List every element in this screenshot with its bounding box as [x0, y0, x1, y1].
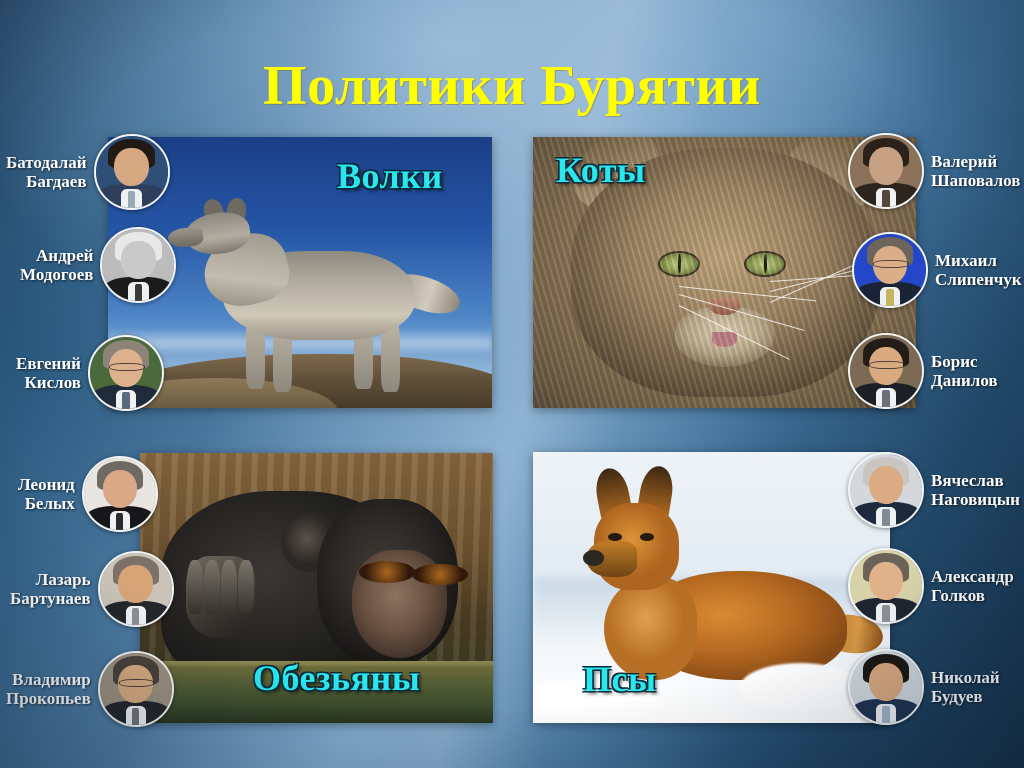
person-name: Вячеслав Наговицын	[931, 471, 1020, 510]
avatar[interactable]	[98, 651, 174, 727]
avatar[interactable]	[848, 333, 924, 409]
person-first-name: Валерий	[931, 152, 1020, 171]
portrait-face	[869, 147, 904, 186]
portrait-photo	[850, 135, 922, 207]
person-name: Валерий Шаповалов	[931, 152, 1020, 191]
person-name: Михаил Слипенчук	[935, 251, 1022, 290]
portrait-photo	[850, 550, 922, 622]
person-entry[interactable]: Леонид Белых	[18, 457, 158, 531]
portrait-photo	[850, 335, 922, 407]
person-last-name: Багдаев	[6, 172, 87, 191]
portrait-tie	[128, 191, 135, 208]
portrait-photo	[96, 136, 168, 208]
chimp-finger-shape	[187, 560, 203, 613]
snow-mound-shape	[740, 663, 861, 712]
portrait-tie	[882, 190, 889, 207]
person-last-name: Будуев	[931, 687, 1000, 706]
person-entry[interactable]: Николай Будуев	[848, 650, 1000, 724]
avatar[interactable]	[88, 335, 164, 411]
person-name: Евгений Кислов	[16, 354, 81, 393]
person-first-name: Николай	[931, 668, 1000, 687]
portrait-tie	[886, 289, 893, 306]
portrait-tie	[132, 708, 139, 725]
portrait-tie	[116, 513, 123, 530]
portrait-tie	[882, 390, 889, 407]
person-name: Леонид Белых	[18, 475, 75, 514]
person-entry[interactable]: Евгений Кислов	[16, 336, 164, 410]
dog-nose-shape	[583, 550, 604, 566]
portrait-glasses	[869, 361, 904, 369]
person-entry[interactable]: Лазарь Бартунаев	[10, 552, 174, 626]
caption-wolves: Волки	[337, 158, 443, 194]
slide-canvas: Политики Бурятии Волки	[0, 0, 1024, 768]
avatar[interactable]	[848, 133, 924, 209]
page-title: Политики Бурятии	[0, 58, 1024, 114]
person-name: Лазарь Бартунаев	[10, 570, 91, 609]
person-last-name: Прокопьев	[6, 689, 91, 708]
portrait-photo	[100, 653, 172, 725]
person-first-name: Батодалай	[6, 153, 87, 172]
person-name: Батодалай Багдаев	[6, 153, 87, 192]
person-first-name: Владимир	[6, 670, 91, 689]
portrait-photo	[84, 458, 156, 530]
person-entry[interactable]: Владимир Прокопьев	[6, 652, 174, 726]
caption-cats: Коты	[556, 152, 646, 188]
avatar[interactable]	[848, 649, 924, 725]
portrait-tie	[882, 509, 889, 526]
person-last-name: Кислов	[16, 373, 81, 392]
avatar[interactable]	[852, 232, 928, 308]
portrait-photo	[850, 651, 922, 723]
portrait-face	[118, 565, 153, 604]
portrait-face	[869, 663, 904, 702]
chimp-eye-shape	[359, 561, 415, 583]
person-entry[interactable]: Вячеслав Наговицын	[848, 453, 1020, 527]
avatar[interactable]	[848, 452, 924, 528]
person-first-name: Леонид	[18, 475, 75, 494]
person-name: Николай Будуев	[931, 668, 1000, 707]
portrait-tie	[135, 284, 142, 301]
portrait-face	[103, 470, 138, 509]
person-last-name: Модогоев	[20, 265, 93, 284]
chimp-finger-shape	[221, 560, 237, 613]
person-first-name: Михаил	[935, 251, 1022, 270]
person-first-name: Евгений	[16, 354, 81, 373]
portrait-photo	[102, 229, 174, 301]
portrait-tie	[882, 605, 889, 622]
person-entry[interactable]: Валерий Шаповалов	[848, 134, 1020, 208]
person-last-name: Слипенчук	[935, 270, 1022, 289]
person-name: Владимир Прокопьев	[6, 670, 91, 709]
person-first-name: Андрей	[20, 246, 93, 265]
portrait-face	[114, 148, 149, 187]
avatar[interactable]	[82, 456, 158, 532]
person-name: Борис Данилов	[931, 352, 998, 391]
person-entry[interactable]: Александр Голков	[848, 549, 1014, 623]
person-last-name: Данилов	[931, 371, 998, 390]
portrait-tie	[132, 608, 139, 625]
portrait-tie	[882, 706, 889, 723]
person-entry[interactable]: Борис Данилов	[848, 334, 998, 408]
portrait-glasses	[109, 363, 144, 371]
chimp-finger-shape	[238, 560, 254, 613]
caption-monkeys: Обезьяны	[253, 660, 420, 696]
portrait-tie	[122, 392, 129, 409]
person-name: Андрей Модогоев	[20, 246, 93, 285]
portrait-photo	[100, 553, 172, 625]
chimp-finger-shape	[204, 560, 220, 613]
portrait-face	[869, 466, 904, 505]
person-name: Александр Голков	[931, 567, 1014, 606]
person-first-name: Вячеслав	[931, 471, 1020, 490]
person-entry[interactable]: Батодалай Багдаев	[6, 135, 170, 209]
chimp-hand-shape	[186, 556, 257, 637]
portrait-photo	[850, 454, 922, 526]
person-last-name: Шаповалов	[931, 171, 1020, 190]
portrait-face	[121, 241, 156, 280]
avatar[interactable]	[100, 227, 176, 303]
person-entry[interactable]: Михаил Слипенчук	[852, 233, 1022, 307]
portrait-glasses	[873, 260, 908, 268]
portrait-face	[869, 562, 904, 601]
avatar[interactable]	[98, 551, 174, 627]
portrait-photo	[90, 337, 162, 409]
person-first-name: Лазарь	[10, 570, 91, 589]
person-entry[interactable]: Андрей Модогоев	[20, 228, 176, 302]
avatar[interactable]	[848, 548, 924, 624]
portrait-glasses	[119, 679, 154, 687]
person-first-name: Борис	[931, 352, 998, 371]
portrait-photo	[854, 234, 926, 306]
person-last-name: Голков	[931, 586, 1014, 605]
person-last-name: Белых	[18, 494, 75, 513]
person-first-name: Александр	[931, 567, 1014, 586]
person-last-name: Бартунаев	[10, 589, 91, 608]
person-last-name: Наговицын	[931, 490, 1020, 509]
avatar[interactable]	[94, 134, 170, 210]
caption-dogs: Псы	[583, 661, 657, 697]
